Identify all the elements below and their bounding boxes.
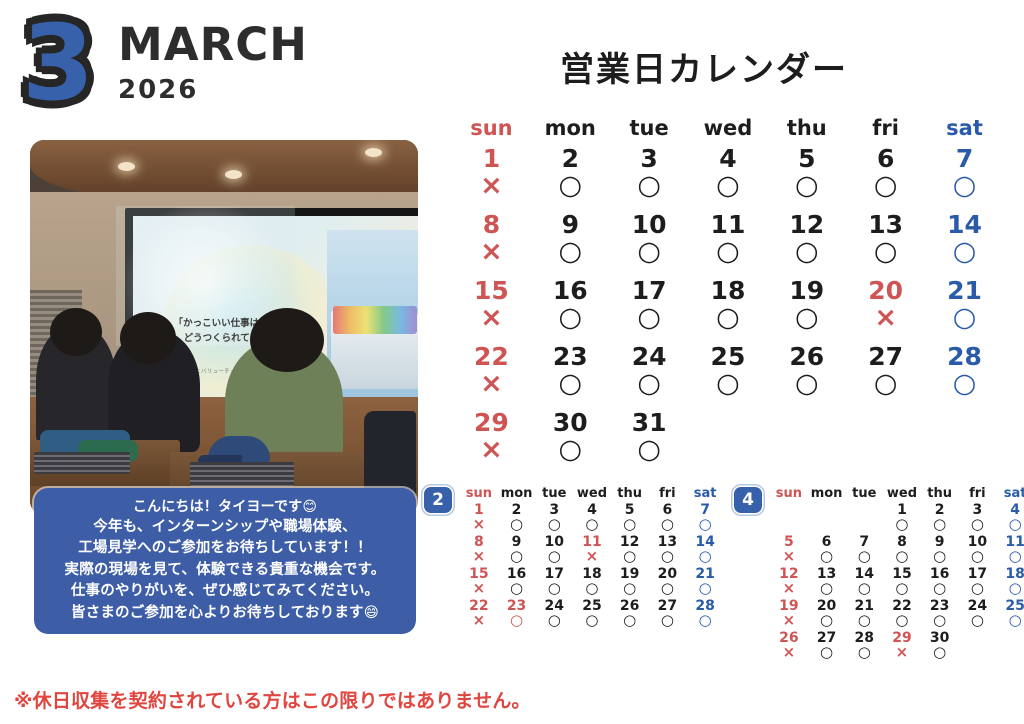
calendar-day-cell[interactable]: 18○ [689, 278, 768, 344]
calendar-day-cell[interactable]: 19× [770, 599, 808, 631]
photo-attendee-head [120, 312, 176, 364]
closed-mark-icon: × [770, 645, 808, 661]
open-mark-icon: ○ [498, 613, 536, 629]
calendar-day-cell[interactable]: 14○ [686, 535, 724, 567]
calendar-day-cell[interactable]: 12○ [611, 535, 649, 567]
open-mark-icon: ○ [925, 304, 1004, 332]
open-mark-icon: ○ [498, 581, 536, 597]
calendar-day-cell[interactable]: 21○ [686, 567, 724, 599]
calendar-day-cell[interactable]: 2○ [921, 503, 959, 535]
open-mark-icon: ○ [925, 238, 1004, 266]
weekday-header-wed: wed [689, 116, 768, 146]
calendar-week-row: 22×23○24○25○26○27○28○ [460, 599, 724, 631]
weekday-header-tue: tue [845, 486, 883, 503]
day-number: 24 [610, 344, 689, 370]
open-mark-icon: ○ [610, 172, 689, 200]
calendar-week-row: 1×2○3○4○5○6○7○ [460, 503, 724, 535]
calendar-day-cell[interactable]: 17○ [610, 278, 689, 344]
open-mark-icon: ○ [921, 645, 959, 661]
weekday-header-fri: fri [649, 486, 687, 503]
open-mark-icon: ○ [610, 304, 689, 332]
calendar-day-cell[interactable]: 3○ [610, 146, 689, 212]
calendar-empty-cell [767, 410, 846, 476]
mini-calendar-table-feb: sun mon tue wed thu fri sat 1×2○3○4○5○6○… [460, 486, 724, 631]
closed-mark-icon: × [460, 613, 498, 629]
calendar-day-cell[interactable]: 1○ [883, 503, 921, 535]
day-number: 23 [531, 344, 610, 370]
weekday-header-sun: sun [770, 486, 808, 503]
mini-month-badge-apr: 4 [734, 487, 762, 513]
calendar-day-cell[interactable]: 22× [460, 599, 498, 631]
weekday-header-sat: sat [996, 486, 1024, 503]
weekday-header-fri: fri [959, 486, 997, 503]
calendar-day-cell[interactable]: 8× [452, 212, 531, 278]
open-mark-icon: ○ [959, 517, 997, 533]
weekday-header-sun: sun [460, 486, 498, 503]
calendar-day-cell[interactable]: 5○ [611, 503, 649, 535]
open-mark-icon: ○ [921, 613, 959, 629]
message-line: 工場見学へのご参加をお待ちしています！！ [44, 538, 406, 559]
calendar-day-cell[interactable]: 9○ [921, 535, 959, 567]
calendar-day-cell[interactable]: 13○ [649, 535, 687, 567]
open-mark-icon: ○ [845, 581, 883, 597]
calendar-day-cell[interactable]: 9○ [498, 535, 536, 567]
open-mark-icon: ○ [535, 581, 573, 597]
open-mark-icon: ○ [689, 370, 768, 398]
calendar-week-row: 22×23○24○25○26○27○28○ [452, 344, 1004, 410]
open-mark-icon: ○ [531, 238, 610, 266]
mini-grid-feb: sun mon tue wed thu fri sat 1×2○3○4○5○6○… [460, 486, 724, 631]
calendar-day-cell[interactable]: 25○ [996, 599, 1024, 631]
calendar-day-cell[interactable]: 6○ [808, 535, 846, 567]
open-mark-icon: ○ [686, 549, 724, 565]
calendar-empty-cell [808, 503, 846, 535]
day-number: 3 [610, 146, 689, 172]
open-mark-icon: ○ [921, 549, 959, 565]
calendar-day-cell[interactable]: 5× [770, 535, 808, 567]
message-line: 今年も、インターンシップや職場体験、 [44, 517, 406, 538]
calendar-day-cell[interactable]: 15○ [883, 567, 921, 599]
open-mark-icon: ○ [573, 517, 611, 533]
open-mark-icon: ○ [959, 549, 997, 565]
header-text-block: MARCH 2026 [118, 22, 308, 103]
open-mark-icon: ○ [689, 172, 768, 200]
day-number: 21 [925, 278, 1004, 304]
open-mark-icon: ○ [649, 613, 687, 629]
calendar-day-cell[interactable]: 28○ [686, 599, 724, 631]
closed-mark-icon: × [573, 549, 611, 565]
calendar-day-cell[interactable]: 26× [770, 631, 808, 663]
calendar-week-row: 26×27○28○29×30○ [770, 631, 1024, 663]
mini-grid-apr: sun mon tue wed thu fri sat 1○2○3○4○5×6○… [770, 486, 1024, 663]
open-mark-icon: ○ [686, 517, 724, 533]
open-mark-icon: ○ [531, 370, 610, 398]
open-mark-icon: ○ [883, 581, 921, 597]
calendar-day-cell[interactable]: 17○ [959, 567, 997, 599]
weekday-header-mon: mon [498, 486, 536, 503]
calendar-day-cell[interactable]: 14○ [925, 212, 1004, 278]
calendar-week-row: 12×13○14○15○16○17○18○ [770, 567, 1024, 599]
calendar-day-cell[interactable]: 24○ [610, 344, 689, 410]
calendar-day-cell[interactable]: 18○ [573, 567, 611, 599]
mini-header-row-apr: sun mon tue wed thu fri sat [770, 486, 1024, 503]
message-line: こんにちは！タイヨーです😊 [44, 496, 406, 517]
calendar-day-cell[interactable]: 2○ [531, 146, 610, 212]
message-box: こんにちは！タイヨーです😊 今年も、インターンシップや職場体験、 工場見学へのご… [34, 488, 416, 634]
closed-mark-icon: × [460, 549, 498, 565]
day-number: 12 [767, 212, 846, 238]
open-mark-icon: ○ [959, 613, 997, 629]
calendar-day-cell[interactable]: 25○ [573, 599, 611, 631]
calendar-day-cell[interactable]: 7○ [686, 503, 724, 535]
open-mark-icon: ○ [808, 613, 846, 629]
open-mark-icon: ○ [925, 370, 1004, 398]
weekday-header-fri: fri [846, 116, 925, 146]
calendar-day-cell[interactable]: 31○ [610, 410, 689, 476]
open-mark-icon: ○ [846, 172, 925, 200]
mini-header-row-feb: sun mon tue wed thu fri sat [460, 486, 724, 503]
calendar-day-cell[interactable]: 15× [460, 567, 498, 599]
closed-mark-icon: × [460, 581, 498, 597]
open-mark-icon: ○ [845, 645, 883, 661]
calendar-day-cell[interactable]: 20× [846, 278, 925, 344]
open-mark-icon: ○ [921, 517, 959, 533]
calendar-day-cell[interactable]: 1× [460, 503, 498, 535]
seminar-photo: 「かっこいい仕事は、 どうつくられているのか」 MVVとバリューチェーンでひも解… [30, 140, 418, 515]
calendar-day-cell[interactable]: 7○ [845, 535, 883, 567]
day-number: 19 [767, 278, 846, 304]
weekday-header-sat: sat [686, 486, 724, 503]
weekday-header-sun: sun [452, 116, 531, 146]
open-mark-icon: ○ [767, 172, 846, 200]
calendar-day-cell[interactable]: 23○ [498, 599, 536, 631]
open-mark-icon: ○ [808, 581, 846, 597]
calendar-day-cell[interactable]: 4○ [573, 503, 611, 535]
month-name-label: MARCH [118, 22, 308, 67]
calendar-week-row: 1×2○3○4○5○6○7○ [452, 146, 1004, 212]
day-number: 27 [846, 344, 925, 370]
open-mark-icon: ○ [573, 613, 611, 629]
calendar-day-cell[interactable]: 16○ [498, 567, 536, 599]
footer-note: ※休日収集を契約されている方はこの限りではありません。 [14, 686, 531, 713]
closed-mark-icon: × [846, 304, 925, 332]
weekday-header-wed: wed [573, 486, 611, 503]
calendar-day-cell[interactable]: 28○ [925, 344, 1004, 410]
calendar-day-cell[interactable]: 27○ [808, 631, 846, 663]
closed-mark-icon: × [770, 549, 808, 565]
calendar-empty-cell [846, 410, 925, 476]
calendar-day-cell[interactable]: 25○ [689, 344, 768, 410]
calendar-day-cell[interactable]: 28○ [845, 631, 883, 663]
open-mark-icon: ○ [611, 549, 649, 565]
open-mark-icon: ○ [649, 581, 687, 597]
calendar-day-cell[interactable]: 1× [452, 146, 531, 212]
calendar-empty-cell [845, 503, 883, 535]
calendar-day-cell[interactable]: 26○ [611, 599, 649, 631]
weekday-header-thu: thu [767, 116, 846, 146]
open-mark-icon: ○ [649, 517, 687, 533]
main-calendar-table: sun mon tue wed thu fri sat 1×2○3○4○5○6○… [452, 116, 1004, 476]
closed-mark-icon: × [452, 172, 531, 200]
calendar-day-cell[interactable]: 10○ [535, 535, 573, 567]
calendar-day-cell[interactable]: 19○ [611, 567, 649, 599]
day-number: 16 [531, 278, 610, 304]
calendar-empty-cell [925, 410, 1004, 476]
message-line: 皆さまのご参加を心よりお待ちしております😄 [44, 603, 406, 624]
open-mark-icon: ○ [531, 304, 610, 332]
photo-bag [364, 411, 416, 497]
weekday-header-wed: wed [883, 486, 921, 503]
main-calendar-body: 1×2○3○4○5○6○7○8×9○10○11○12○13○14○15×16○1… [452, 146, 1004, 476]
calendar-day-cell[interactable]: 30○ [921, 631, 959, 663]
calendar-day-cell[interactable]: 30○ [531, 410, 610, 476]
open-mark-icon: ○ [649, 549, 687, 565]
weekday-header-thu: thu [611, 486, 649, 503]
day-number: 14 [925, 212, 1004, 238]
open-mark-icon: ○ [808, 645, 846, 661]
calendar-day-cell[interactable]: 19○ [767, 278, 846, 344]
calendar-week-row: 19×20○21○22○23○24○25○ [770, 599, 1024, 631]
calendar-day-cell[interactable]: 14○ [845, 567, 883, 599]
day-number: 26 [767, 344, 846, 370]
calendar-day-cell[interactable]: 27○ [846, 344, 925, 410]
photo-ceiling-light [225, 170, 242, 179]
photo-attendee-head [50, 308, 102, 356]
open-mark-icon: ○ [686, 581, 724, 597]
open-mark-icon: ○ [611, 517, 649, 533]
weekday-header-sat: sat [925, 116, 1004, 146]
calendar-day-cell[interactable]: 18○ [996, 567, 1024, 599]
day-number: 15 [452, 278, 531, 304]
calendar-day-cell[interactable]: 29× [883, 631, 921, 663]
open-mark-icon: ○ [921, 581, 959, 597]
month-number-logo: 3 [4, 8, 112, 118]
day-number: 17 [610, 278, 689, 304]
calendar-week-row: 29×30○31○ [452, 410, 1004, 476]
calendar-day-cell[interactable]: 21○ [845, 599, 883, 631]
open-mark-icon: ○ [686, 613, 724, 629]
calendar-week-row: 15×16○17○18○19○20○21○ [460, 567, 724, 599]
calendar-day-cell[interactable]: 13○ [808, 567, 846, 599]
month-number-text: 3 [22, 11, 94, 115]
calendar-empty-cell [770, 503, 808, 535]
calendar-empty-cell [959, 631, 997, 663]
main-calendar: sun mon tue wed thu fri sat 1×2○3○4○5○6○… [452, 116, 1004, 476]
photo-cap [208, 436, 270, 462]
day-number: 31 [610, 410, 689, 436]
calendar-week-row: 15×16○17○18○19○20×21○ [452, 278, 1004, 344]
calendar-day-cell[interactable]: 20○ [808, 599, 846, 631]
day-number: 4 [689, 146, 768, 172]
closed-mark-icon: × [460, 517, 498, 533]
calendar-day-cell[interactable]: 15× [452, 278, 531, 344]
open-mark-icon: ○ [689, 238, 768, 266]
closed-mark-icon: × [770, 581, 808, 597]
open-mark-icon: ○ [996, 613, 1024, 629]
calendar-day-cell[interactable]: 16○ [531, 278, 610, 344]
photo-attendee-head [250, 308, 324, 372]
calendar-week-row: 8×9○10○11○12○13○14○ [452, 212, 1004, 278]
calendar-day-cell[interactable]: 29× [452, 410, 531, 476]
calendar-day-cell[interactable]: 6○ [846, 146, 925, 212]
calendar-week-row: 8×9○10○11×12○13○14○ [460, 535, 724, 567]
day-number: 8 [452, 212, 531, 238]
day-number: 5 [767, 146, 846, 172]
weekday-header-tue: tue [610, 116, 689, 146]
day-number: 30 [531, 410, 610, 436]
weekday-header-mon: mon [531, 116, 610, 146]
open-mark-icon: ○ [996, 581, 1024, 597]
day-number: 6 [846, 146, 925, 172]
day-number: 10 [610, 212, 689, 238]
open-mark-icon: ○ [959, 581, 997, 597]
calendar-day-cell[interactable]: 3○ [535, 503, 573, 535]
calendar-day-cell[interactable]: 3○ [959, 503, 997, 535]
open-mark-icon: ○ [883, 517, 921, 533]
closed-mark-icon: × [883, 645, 921, 661]
calendar-day-cell[interactable]: 9○ [531, 212, 610, 278]
closed-mark-icon: × [452, 238, 531, 266]
day-number: 7 [925, 146, 1004, 172]
photo-ceiling-light [365, 148, 382, 157]
closed-mark-icon: × [452, 436, 531, 464]
open-mark-icon: ○ [531, 436, 610, 464]
calendar-empty-cell [689, 410, 768, 476]
open-mark-icon: ○ [883, 549, 921, 565]
mini-calendar-body-feb: 1×2○3○4○5○6○7○8×9○10○11×12○13○14○15×16○1… [460, 503, 724, 631]
calendar-day-cell[interactable]: 24○ [959, 599, 997, 631]
calendar-day-cell[interactable]: 13○ [846, 212, 925, 278]
day-number: 29 [452, 410, 531, 436]
calendar-day-cell[interactable]: 23○ [921, 599, 959, 631]
calendar-day-cell[interactable]: 7○ [925, 146, 1004, 212]
open-mark-icon: ○ [611, 613, 649, 629]
closed-mark-icon: × [452, 370, 531, 398]
calendar-day-cell[interactable]: 17○ [535, 567, 573, 599]
open-mark-icon: ○ [845, 549, 883, 565]
closed-mark-icon: × [452, 304, 531, 332]
calendar-day-cell[interactable]: 24○ [535, 599, 573, 631]
weekday-header-thu: thu [921, 486, 959, 503]
open-mark-icon: ○ [610, 238, 689, 266]
open-mark-icon: ○ [767, 304, 846, 332]
open-mark-icon: ○ [611, 581, 649, 597]
calendar-day-cell[interactable]: 4○ [996, 503, 1024, 535]
open-mark-icon: ○ [846, 238, 925, 266]
calendar-day-cell[interactable]: 4○ [689, 146, 768, 212]
year-label: 2026 [118, 77, 308, 103]
open-mark-icon: ○ [573, 581, 611, 597]
mini-calendar-body-apr: 1○2○3○4○5×6○7○8○9○10○11○12×13○14○15○16○1… [770, 503, 1024, 663]
open-mark-icon: ○ [498, 549, 536, 565]
calendar-day-cell[interactable]: 26○ [767, 344, 846, 410]
message-line: 仕事のやりがいを、ぜひ感じてみてください。 [44, 581, 406, 602]
calendar-day-cell[interactable]: 23○ [531, 344, 610, 410]
day-number: 9 [531, 212, 610, 238]
open-mark-icon: ○ [808, 549, 846, 565]
calendar-day-cell[interactable]: 12○ [767, 212, 846, 278]
calendar-day-cell[interactable]: 10○ [959, 535, 997, 567]
day-number: 20 [846, 278, 925, 304]
day-number: 18 [689, 278, 768, 304]
main-calendar-header-row: sun mon tue wed thu fri sat [452, 116, 1004, 146]
weekday-header-mon: mon [808, 486, 846, 503]
calendar-week-row: 5×6○7○8○9○10○11○ [770, 535, 1024, 567]
open-mark-icon: ○ [846, 370, 925, 398]
calendar-day-cell[interactable]: 27○ [649, 599, 687, 631]
weekday-header-tue: tue [535, 486, 573, 503]
calendar-day-cell[interactable]: 8× [460, 535, 498, 567]
day-number: 25 [689, 344, 768, 370]
calendar-day-cell[interactable]: 21○ [925, 278, 1004, 344]
calendar-day-cell[interactable]: 5○ [767, 146, 846, 212]
open-mark-icon: ○ [610, 370, 689, 398]
calendar-day-cell[interactable]: 11○ [689, 212, 768, 278]
open-mark-icon: ○ [845, 613, 883, 629]
mini-calendar-table-apr: sun mon tue wed thu fri sat 1○2○3○4○5×6○… [770, 486, 1024, 663]
day-number: 28 [925, 344, 1004, 370]
calendar-day-cell[interactable]: 10○ [610, 212, 689, 278]
open-mark-icon: ○ [535, 613, 573, 629]
calendar-day-cell[interactable]: 22○ [883, 599, 921, 631]
open-mark-icon: ○ [689, 304, 768, 332]
calendar-day-cell[interactable]: 20○ [649, 567, 687, 599]
calendar-day-cell[interactable]: 8○ [883, 535, 921, 567]
message-line: 実際の現場を見て、体験できる貴重な機会です。 [44, 560, 406, 581]
open-mark-icon: ○ [498, 517, 536, 533]
open-mark-icon: ○ [925, 172, 1004, 200]
calendar-day-cell[interactable]: 11○ [996, 535, 1024, 567]
page-title: 営業日カレンダー [560, 42, 848, 91]
open-mark-icon: ○ [767, 370, 846, 398]
photo-material-stack [34, 452, 130, 474]
open-mark-icon: ○ [767, 238, 846, 266]
calendar-day-cell[interactable]: 12× [770, 567, 808, 599]
open-mark-icon: ○ [535, 517, 573, 533]
calendar-empty-cell [996, 631, 1024, 663]
calendar-day-cell[interactable]: 16○ [921, 567, 959, 599]
calendar-day-cell[interactable]: 2○ [498, 503, 536, 535]
open-mark-icon: ○ [531, 172, 610, 200]
open-mark-icon: ○ [610, 436, 689, 464]
open-mark-icon: ○ [996, 517, 1024, 533]
calendar-page: 3 MARCH 2026 営業日カレンダー 「かっこいい仕事は、 どうつく [0, 0, 1024, 724]
calendar-day-cell[interactable]: 22× [452, 344, 531, 410]
day-number: 13 [846, 212, 925, 238]
calendar-week-row: 1○2○3○4○ [770, 503, 1024, 535]
day-number: 22 [452, 344, 531, 370]
day-number: 1 [452, 146, 531, 172]
photo-material-stack [190, 462, 294, 486]
photo-ceiling-light [118, 162, 135, 171]
open-mark-icon: ○ [535, 549, 573, 565]
open-mark-icon: ○ [883, 613, 921, 629]
calendar-day-cell[interactable]: 11× [573, 535, 611, 567]
mini-month-badge-feb: 2 [424, 487, 452, 513]
day-number: 11 [689, 212, 768, 238]
closed-mark-icon: × [770, 613, 808, 629]
day-number: 2 [531, 146, 610, 172]
open-mark-icon: ○ [996, 549, 1024, 565]
calendar-day-cell[interactable]: 6○ [649, 503, 687, 535]
